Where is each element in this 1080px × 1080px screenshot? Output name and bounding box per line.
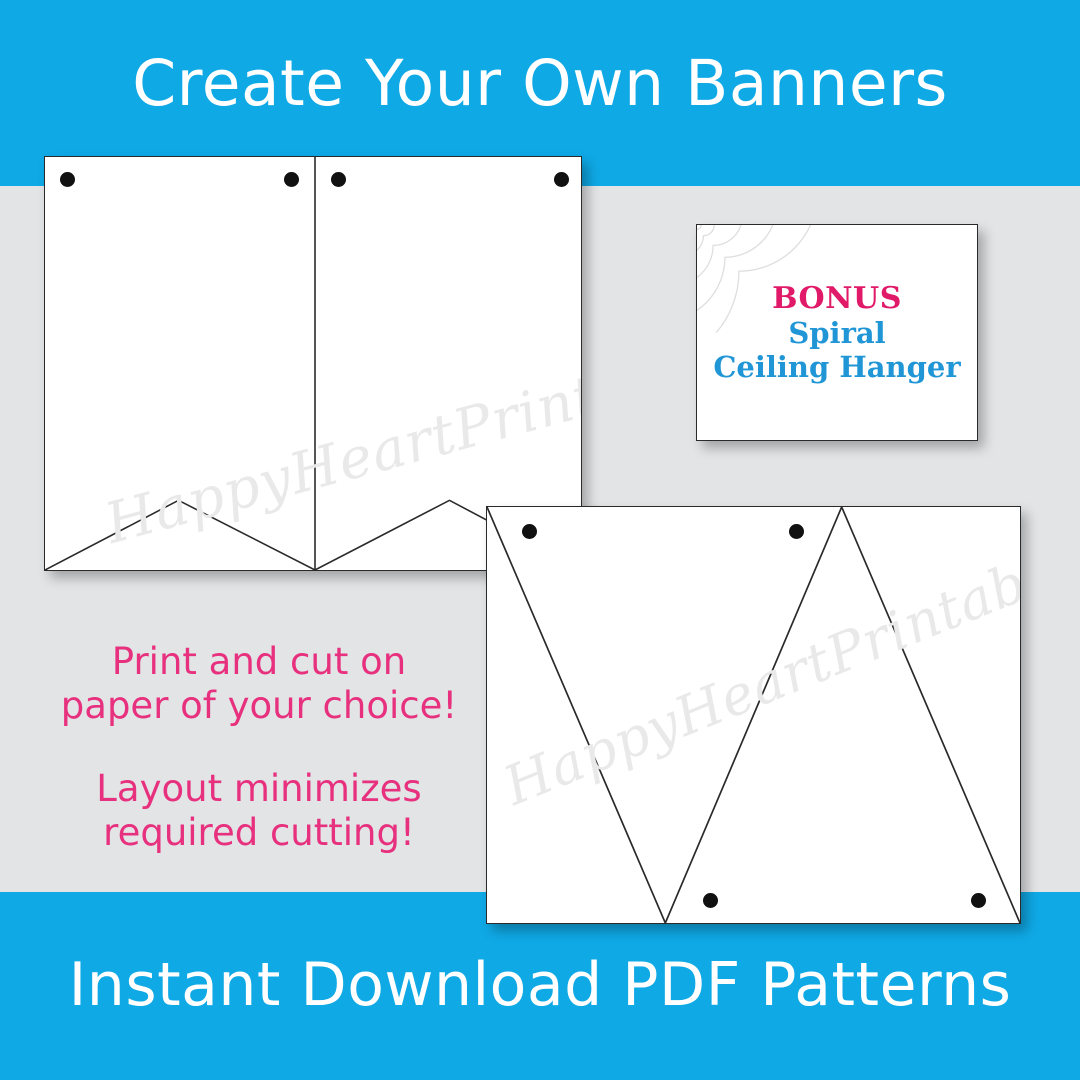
punch-hole <box>554 172 569 187</box>
feature-line-1: Print and cut on <box>24 640 494 684</box>
feature-line-2: paper of your choice! <box>24 684 494 728</box>
page-title: Create Your Own Banners <box>0 52 1080 115</box>
feature-line-3: Layout minimizes <box>24 767 494 811</box>
punch-hole <box>703 893 718 908</box>
triangle-pennant-template-sheet[interactable]: HappyHeartPrintables <box>486 506 1021 924</box>
bonus-badge: BONUS <box>772 282 902 316</box>
footer-title: Instant Download PDF Patterns <box>0 955 1080 1015</box>
bonus-spiral-ceiling-hanger-sheet[interactable]: BONUS Spiral Ceiling Hanger <box>696 224 978 441</box>
punch-hole <box>331 172 346 187</box>
bonus-line-2: Ceiling Hanger <box>713 350 960 384</box>
bonus-card-text: BONUS Spiral Ceiling Hanger <box>697 225 977 440</box>
feature-text-print-and-cut: Print and cut on paper of your choice! <box>24 640 494 728</box>
punch-hole <box>284 172 299 187</box>
poster-canvas: Create Your Own Banners Instant Download… <box>0 0 1080 1080</box>
punch-hole <box>789 524 804 539</box>
punch-hole <box>522 524 537 539</box>
triangle-cut-lines <box>487 507 1020 923</box>
bonus-line-1: Spiral <box>788 316 885 350</box>
punch-hole <box>60 172 75 187</box>
feature-text-layout-minimizes: Layout minimizes required cutting! <box>24 767 494 855</box>
feature-line-4: required cutting! <box>24 811 494 855</box>
punch-hole <box>971 893 986 908</box>
